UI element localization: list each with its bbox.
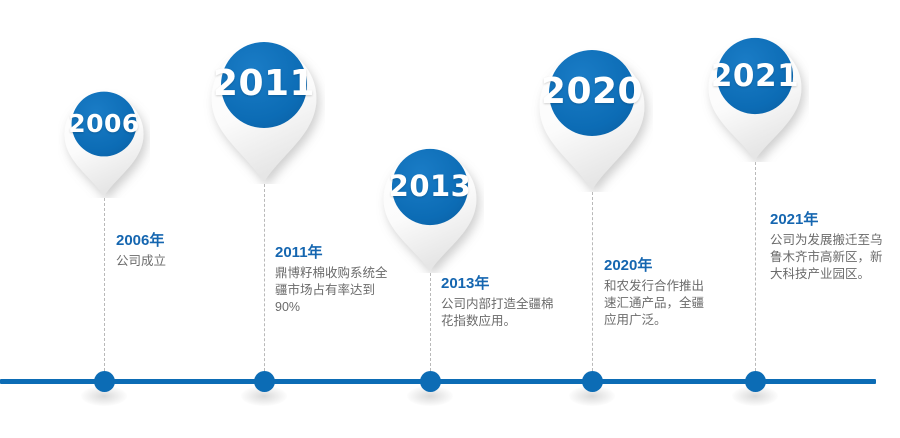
pin-connector-line-2020 [592, 192, 593, 381]
entry-description-2011: 鼎博籽棉收购系统全疆市场占有率达到90% [275, 265, 395, 316]
entry-year-label-2013: 2013年 [441, 274, 561, 293]
pin-teardrop-shape-2006 [58, 78, 150, 198]
entry-description-2021: 公司为发展搬迁至乌鲁木齐市高新区，新大科技产业园区。 [770, 232, 888, 283]
entry-description-2013: 公司内部打造全疆棉花指数应用。 [441, 296, 561, 330]
axis-dot-2006[interactable] [94, 371, 115, 392]
entry-year-label-2006: 2006年 [116, 231, 266, 250]
timeline-entry-2021: 2021年公司为发展搬迁至乌鲁木齐市高新区，新大科技产业园区。 [770, 210, 888, 283]
pin-connector-line-2021 [755, 162, 756, 381]
pin-connector-line-2013 [430, 273, 431, 381]
entry-description-2020: 和农发行合作推出速汇通产品，全疆应用广泛。 [604, 278, 716, 329]
pin-teardrop-shape-2020 [531, 32, 653, 192]
timeline-pin-2021[interactable]: 2021 [701, 22, 809, 162]
pin-teardrop-shape-2011 [203, 24, 325, 184]
timeline-pin-2020[interactable]: 2020 [531, 32, 653, 192]
entry-year-label-2021: 2021年 [770, 210, 888, 229]
entry-year-label-2011: 2011年 [275, 243, 395, 262]
timeline-pin-2006[interactable]: 2006 [58, 78, 150, 198]
entry-year-label-2020: 2020年 [604, 256, 716, 275]
pin-connector-line-2011 [264, 184, 265, 381]
timeline-entry-2011: 2011年鼎博籽棉收购系统全疆市场占有率达到90% [275, 243, 395, 316]
axis-dot-2011[interactable] [254, 371, 275, 392]
timeline-pin-2011[interactable]: 2011 [203, 24, 325, 184]
timeline-entry-2020: 2020年和农发行合作推出速汇通产品，全疆应用广泛。 [604, 256, 716, 329]
pin-teardrop-shape-2021 [701, 22, 809, 162]
axis-dot-2013[interactable] [420, 371, 441, 392]
axis-dot-2020[interactable] [582, 371, 603, 392]
timeline-entry-2013: 2013年公司内部打造全疆棉花指数应用。 [441, 274, 561, 330]
timeline-entry-2006: 2006年公司成立 [116, 231, 266, 270]
pin-connector-line-2006 [104, 198, 105, 381]
axis-dot-2021[interactable] [745, 371, 766, 392]
entry-description-2006: 公司成立 [116, 253, 266, 270]
timeline-infographic: 20062011201320202021 2006年公司成立2011年鼎博籽棉收… [0, 0, 900, 438]
